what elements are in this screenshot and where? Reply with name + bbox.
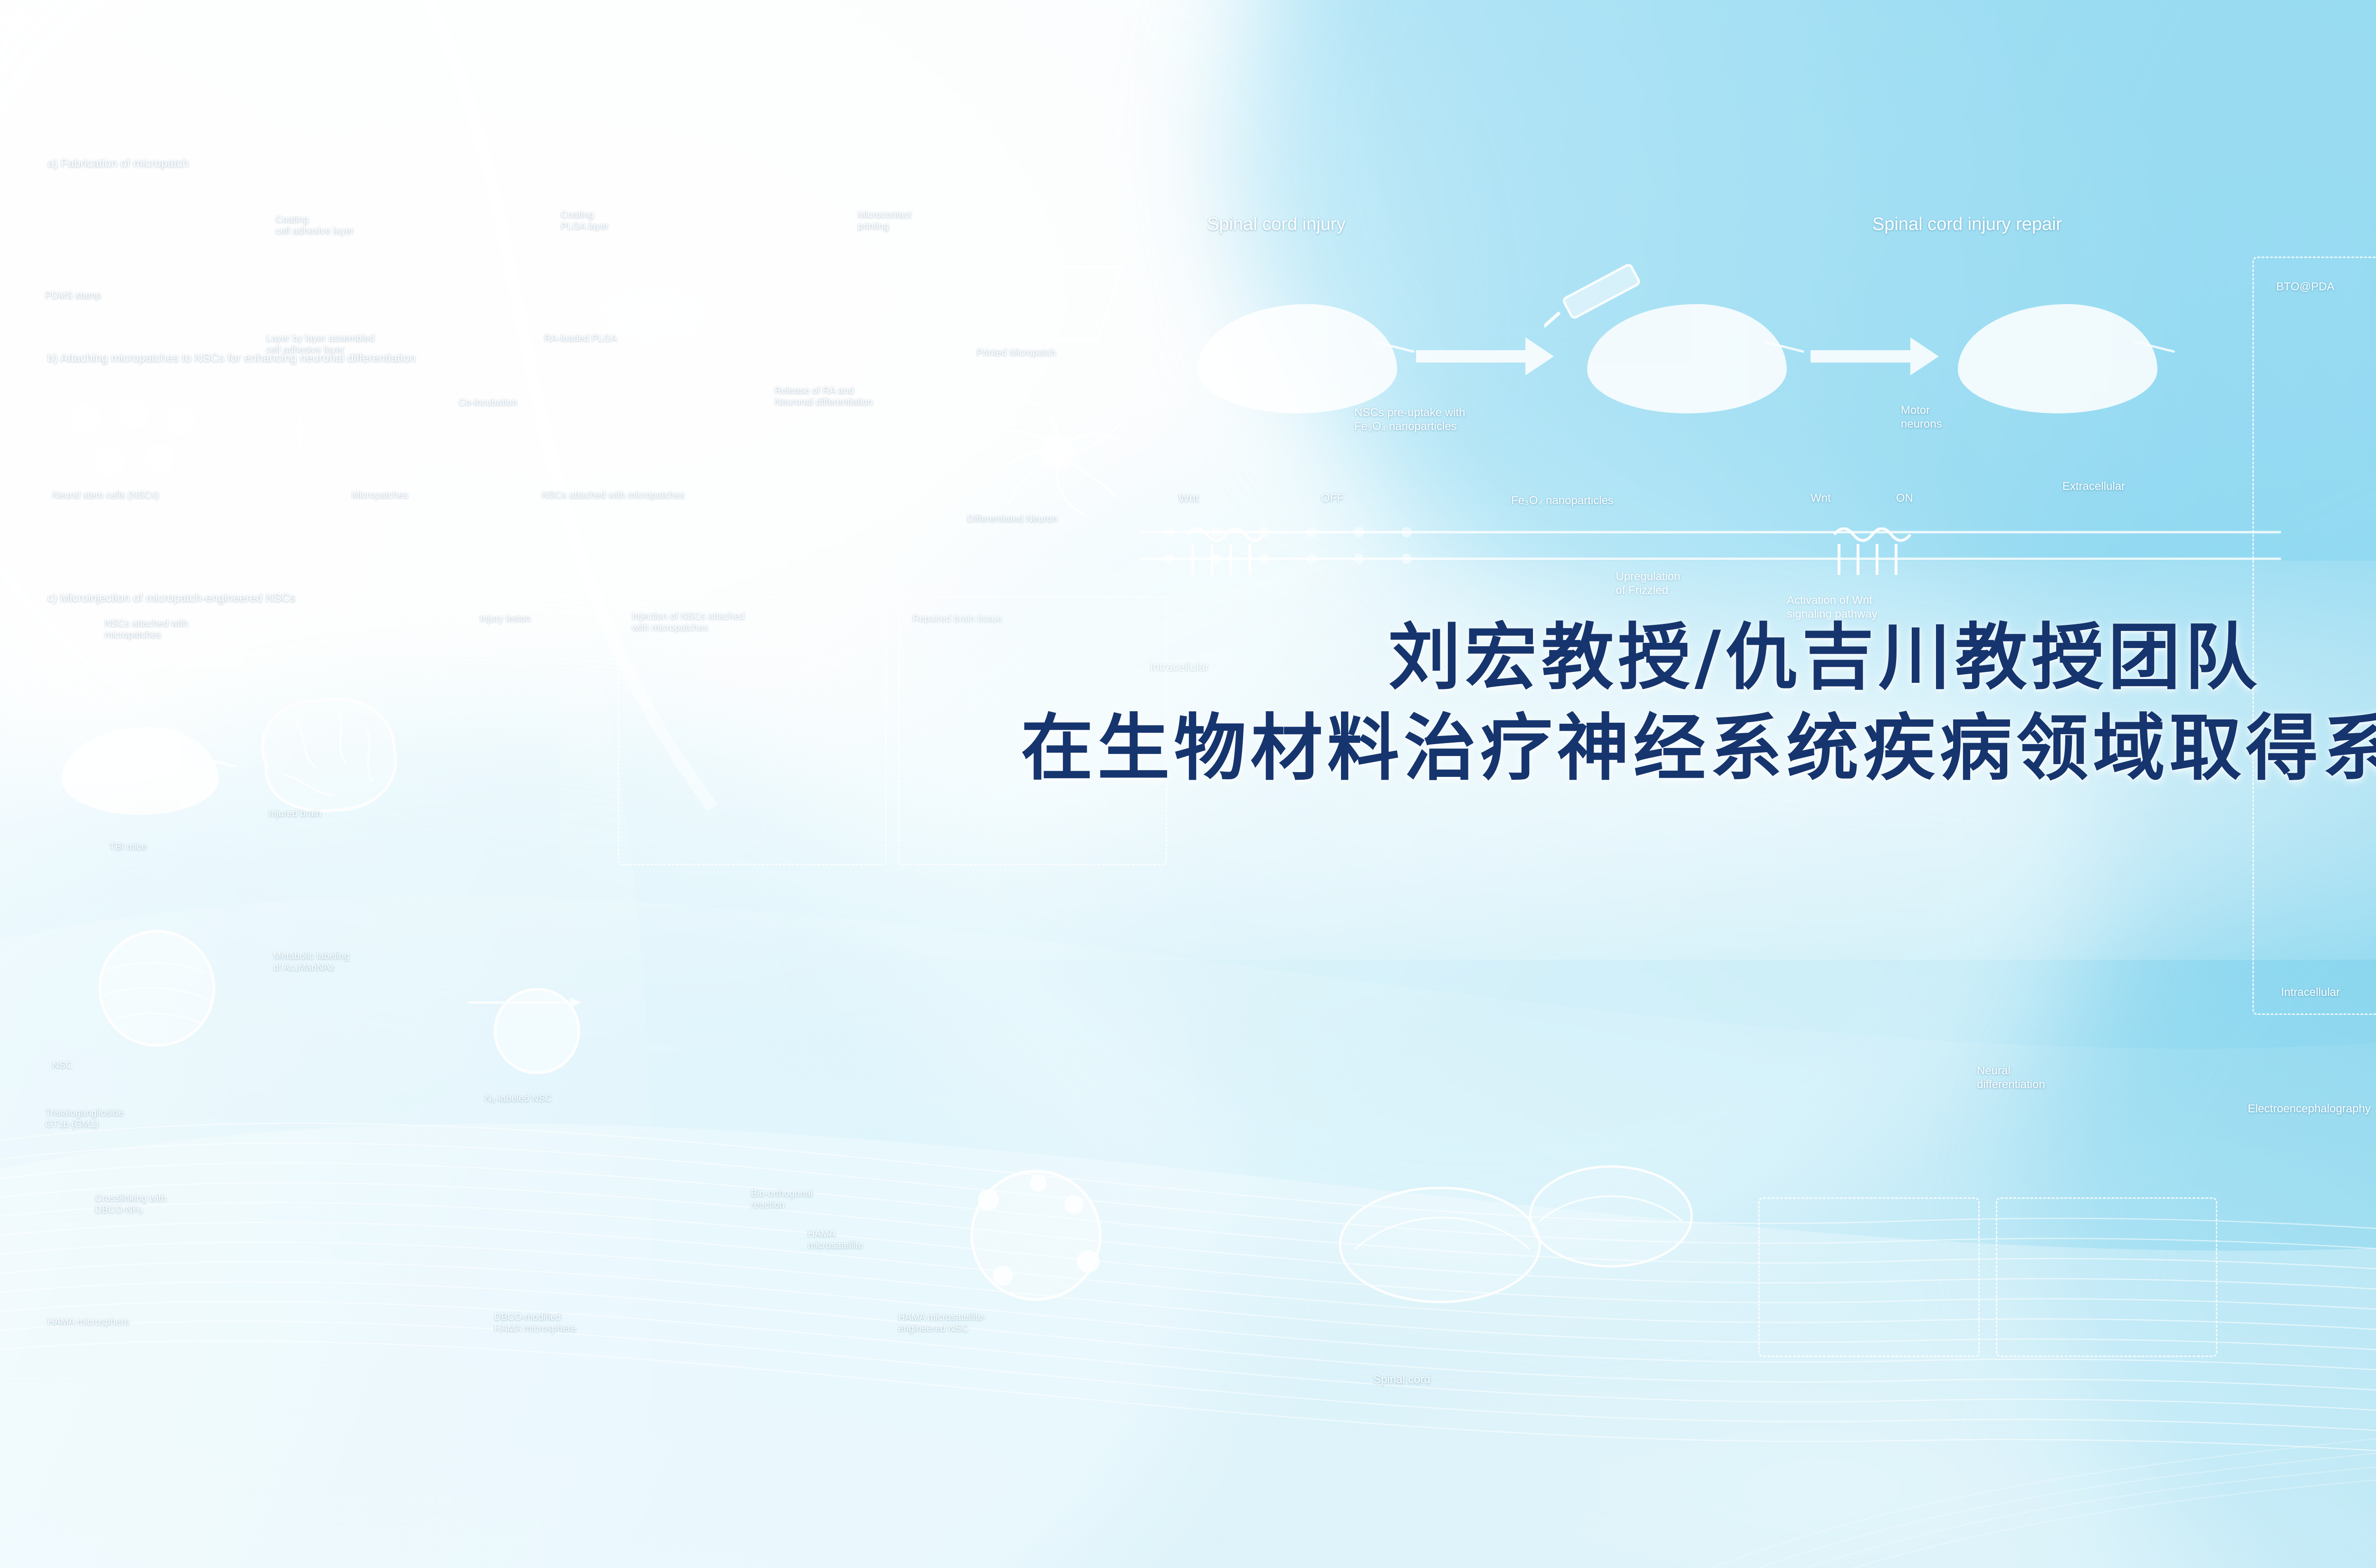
hama-engineered-nsc-icon	[931, 1150, 1140, 1321]
figure-c-label-tbi-mice: TBI mice	[109, 841, 147, 852]
nsc-patched-4	[646, 442, 681, 477]
hama-microsphere-icon	[81, 917, 238, 1060]
spinal-label-eeg: Electroencephalography	[2248, 1102, 2371, 1116]
plus-v	[298, 415, 301, 448]
spinal-mouse-1	[1198, 304, 1397, 413]
on-label: ON	[1896, 492, 1913, 506]
nsc-cell-5	[145, 444, 174, 474]
figure-a-label-pdms: PDMS stamp	[45, 290, 101, 301]
tube-icon	[352, 394, 432, 504]
figure-a-caption: a) Fabrication of micropatch	[48, 157, 189, 171]
off-label: OFF	[1321, 492, 1344, 506]
figure-c-label-repaired: Repaired brain tissue	[912, 613, 1002, 624]
figure-a-arrow-1	[185, 223, 271, 261]
figure-b-label-coincubation: Co-incubation	[459, 397, 517, 408]
plga-plate	[546, 249, 693, 325]
hama-label-metabolic: Metabolic labeling of Ac₄ManNAz	[273, 950, 349, 973]
science-figure-collage: a) Fabrication of micropatch PDMS stamp …	[0, 0, 2376, 1568]
hama-label-engineered-nsc: HAMA microsatellite- engineered NSC	[898, 1311, 987, 1334]
n3-labeled-nsc-icon	[475, 960, 599, 1074]
figure-a-label-coating-cell: Coating cell adhesive layer	[276, 214, 354, 237]
cell-membrane	[1140, 513, 2281, 580]
figure-a-label-printed: Printed Micropatch	[977, 347, 1056, 358]
spinal-label-extracellular: Extracellular	[2062, 480, 2125, 494]
hama-label-nsc: NSC	[52, 1060, 72, 1071]
hama-label-dbco: DBCO-modified HAMA microsphere	[494, 1311, 576, 1334]
hama-label-crosslink: Crosslinking with DBCO-NH₂	[95, 1193, 166, 1215]
wnt-label-right: Wnt	[1811, 492, 1831, 506]
nsc-cell-3	[166, 406, 196, 436]
nsc-cell-4	[95, 447, 125, 476]
bto-left-panel-box	[2252, 257, 2376, 1015]
figure-a-arrow-2	[418, 247, 527, 290]
wnt-label-left: Wnt	[1178, 492, 1199, 506]
figure-c-label-injection: Injection of NSCs attached with micropat…	[632, 611, 745, 633]
figure-b-label-diff-neuron: Differentiated Neuron	[967, 513, 1057, 525]
figure-b-label-nsc: Neural stem cells (NSCs)	[52, 489, 159, 501]
figure-a-label-ra-plga: RA-loaded PLGA	[544, 333, 617, 344]
banner-root: a) Fabrication of micropatch PDMS stamp …	[0, 0, 2376, 1568]
spinal-label-intracellular: Intracellular	[1150, 660, 1209, 674]
hama-label-microsphere: HAMA microsphere	[48, 1316, 129, 1328]
spinal-mouse-3	[1958, 304, 2157, 413]
spinal-label-repair: Spinal cord injury repair	[1872, 214, 2062, 236]
background-blob-6	[855, 428, 2091, 1283]
figure-a-label-lbl-assembled: Layer by layer assembled cell adhesive l…	[266, 333, 374, 355]
figure-c-label-injured-brain: Injured brain	[268, 808, 321, 819]
spinal-label-activation: Activation of Wnt signaling pathway	[1787, 594, 1878, 621]
figure-c-box-1	[618, 596, 887, 865]
figure-b-label-release: Release of RA and Neuronal differentiati…	[775, 385, 872, 408]
background-blob-1	[0, 0, 1426, 950]
figure-b-caption: b) Attaching micropatches to NSCs for en…	[48, 352, 416, 365]
pdms-stamp-plate	[43, 204, 189, 277]
title-block: 刘宏教授/仇吉川教授团队 在生物材料治疗神经系统疾病领域取得系列进展	[0, 613, 2376, 795]
spinal-label-spinal-cord: Spinal cord	[1373, 1373, 1430, 1387]
figure-a-label-coating-plga: Coating PLGA layer	[561, 209, 609, 232]
hama-label-microsatellite: HAMA microsatellite	[808, 1228, 863, 1251]
figure-b-arrow-2	[708, 418, 817, 456]
bto-label-btopda: BTO@PDA	[2276, 280, 2335, 294]
printed-micropatch-plate	[976, 266, 1123, 341]
spinal-arrow-1	[1411, 328, 1563, 385]
nsc-cell-2	[119, 399, 148, 429]
brain-icon	[238, 679, 418, 841]
nsc-patched-1	[575, 406, 610, 441]
figure-c-label-injury-lesion: Injury lesion	[480, 613, 531, 624]
nsc-patched-2	[623, 402, 658, 437]
spinal-label-motor-neurons: Motor neurons	[1901, 404, 1942, 431]
spinal-dashed-box-2	[1996, 1197, 2217, 1357]
receptor-on-icon	[1820, 527, 1944, 589]
tbi-mouse-icon	[62, 727, 219, 815]
bottom-line-waves	[0, 998, 2376, 1568]
nsc-patched-3	[596, 447, 632, 482]
spinal-arrow-2	[1806, 328, 1948, 385]
spinal-label-fe3o4: Fe₃O₄ nanoparticles	[1511, 494, 1614, 508]
hama-label-bioorthogonal: Bio-orthogonal reaction	[751, 1188, 813, 1211]
nsc-cell-1	[71, 404, 101, 433]
spinal-dashed-box-1	[1758, 1197, 1980, 1357]
figure-a-arrow-3	[699, 247, 808, 290]
figure-c-label-nsc-patched: NSCs attached with micropatches	[105, 618, 188, 641]
figure-c-box-2	[898, 596, 1167, 865]
ribbon-sweeps	[0, 0, 2376, 1568]
spinal-label-injury: Spinal cord injury	[1207, 214, 1345, 236]
spinal-label-upregulation: Upregulation of Frizzled	[1616, 570, 1680, 598]
figure-b-arrow-1	[442, 418, 551, 456]
receptor-off-icon	[1174, 527, 1297, 589]
syringe-icon-1	[157, 608, 280, 717]
cell-adhesive-plate	[268, 254, 415, 329]
bto-label-intracellular: Intracellular	[2281, 986, 2340, 1000]
figure-b-label-attached: NSCs attached with micropatches	[542, 489, 684, 501]
spinal-cord-illustration	[1283, 1045, 1806, 1425]
background-blob-4	[2043, 665, 2376, 1568]
figure-c-caption: c) Microinjection of micropatch-engineer…	[48, 592, 296, 605]
differentiated-neuron-icon	[960, 385, 1150, 523]
spinal-syringe-icon	[1544, 252, 1668, 347]
page-title-line-1: 刘宏教授/仇吉川教授团队	[0, 613, 2376, 701]
hama-arrow-1	[466, 979, 589, 1026]
page-title-line-2: 在生物材料治疗神经系统疾病领域取得系列进展	[0, 701, 2376, 795]
spinal-mouse-2	[1587, 304, 1787, 413]
hama-label-n3-nsc: N₃-labeled NSC	[485, 1093, 552, 1104]
spinal-label-preuptake: NSCs pre-uptake with Fe₃O₄ nanoparticles	[1354, 406, 1465, 434]
hama-label-gt1b: Trisialoganglioside GT1b (GM1)	[45, 1107, 124, 1130]
background-blob-5	[0, 713, 1236, 1568]
title-backdrop-haze	[561, 561, 2376, 960]
spinal-label-neural-diff: Neural differentiation	[1977, 1064, 2045, 1092]
figure-b-label-micropatches: Micropatches	[352, 489, 408, 501]
figure-a-label-microcontact: Microcontact printing	[858, 209, 911, 232]
plus-h	[283, 430, 316, 433]
background-blob-2	[1236, 0, 2376, 713]
